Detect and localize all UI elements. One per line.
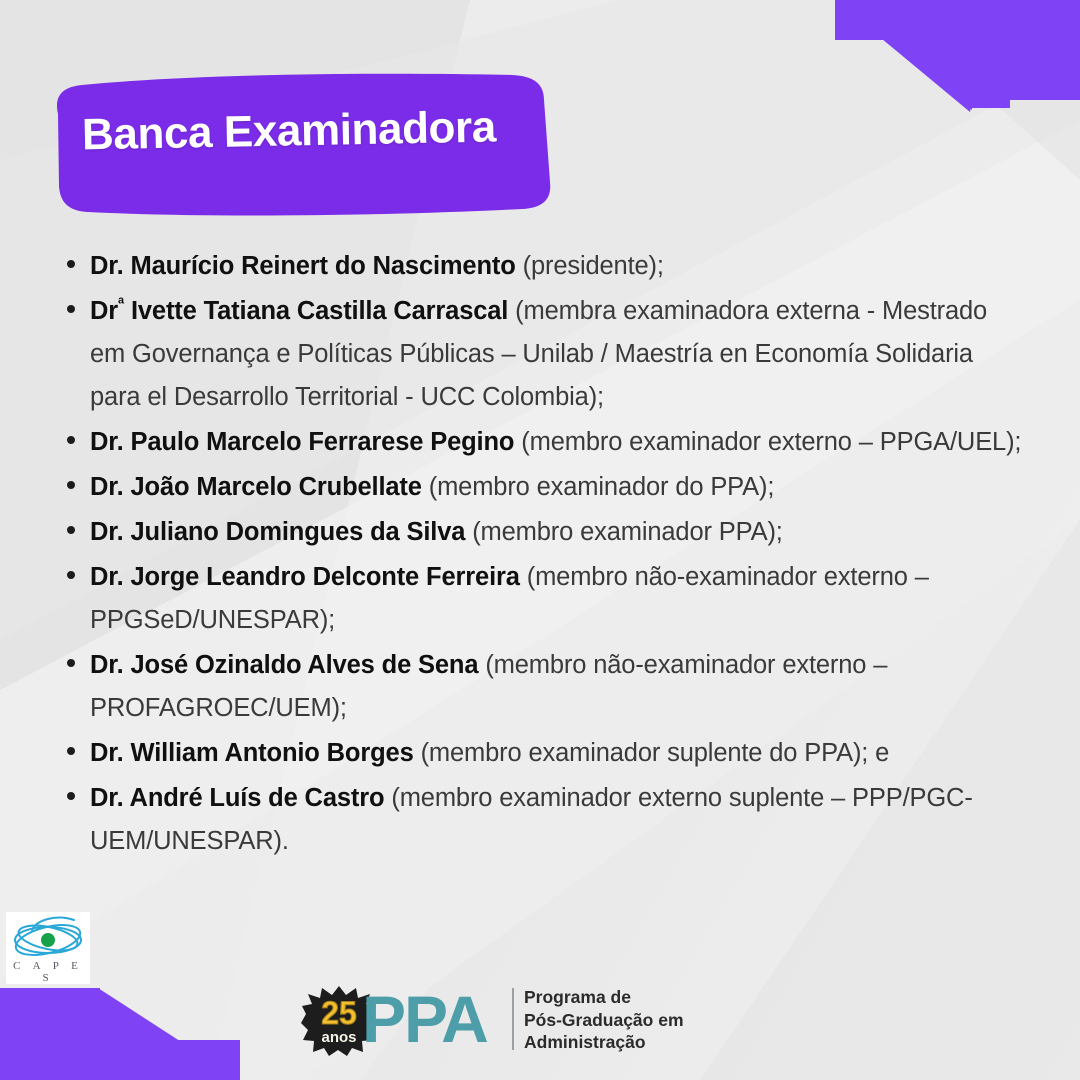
member-name: Dr. William Antonio Borges (90, 739, 414, 767)
list-item: Dr. William Antonio Borges (membro exami… (62, 732, 1022, 775)
ppa-subtitle: Programa de Pós-Graduação em Administraç… (524, 986, 684, 1054)
badge-number: 25 (321, 995, 357, 1031)
bullet-icon (67, 571, 75, 579)
ppa-divider (512, 988, 514, 1050)
capes-wordmark: C A P E S (6, 960, 90, 984)
member-role: (membro examinador externo – PPGA/UEL); (521, 428, 1021, 456)
committee-list: Dr. Maurício Reinert do Nascimento (pres… (62, 245, 1022, 865)
ppa-subtitle-line-1: Programa de (524, 986, 684, 1009)
member-name: Dr. João Marcelo Crubellate (90, 473, 422, 501)
list-item: Dr. Paulo Marcelo Ferrarese Pegino (memb… (62, 421, 1022, 464)
list-item: Dr. André Luís de Castro (membro examina… (62, 777, 1022, 863)
ppa-subtitle-line-2: Pós-Graduação em (524, 1009, 684, 1032)
member-name: Dr. André Luís de Castro (90, 784, 384, 812)
member-name: Dr. Juliano Domingues da Silva (90, 518, 465, 546)
member-name: Dr. Paulo Marcelo Ferrarese Pegino (90, 428, 514, 456)
ppa-subtitle-line-3: Administração (524, 1031, 684, 1054)
list-item: Drª Ivette Tatiana Castilla Carrascal (m… (62, 290, 1022, 419)
ppa-acronym: PPA (362, 982, 487, 1056)
title-banner: Banca Examinadora (44, 72, 564, 217)
ppa-logo: 25 anos PPA Programa de Pós-Graduação em… (300, 980, 700, 1062)
page-title: Banca Examinadora (82, 102, 543, 161)
bullet-icon (67, 481, 75, 489)
member-role: (membro examinador suplente do PPA); e (421, 739, 890, 767)
member-role: (membro examinador PPA); (472, 518, 783, 546)
list-item: Dr. José Ozinaldo Alves de Sena (membro … (62, 644, 1022, 730)
capes-logo: C A P E S (6, 912, 90, 984)
member-name: Dr. Maurício Reinert do Nascimento (90, 252, 516, 280)
list-item: Dr. Juliano Domingues da Silva (membro e… (62, 511, 1022, 554)
capes-orbit-icon (6, 912, 90, 964)
member-role: (membro examinador do PPA); (429, 473, 775, 501)
list-item: Dr. Maurício Reinert do Nascimento (pres… (62, 245, 1022, 288)
member-role: (presidente); (523, 252, 664, 280)
bullet-icon (67, 436, 75, 444)
list-item: Dr. João Marcelo Crubellate (membro exam… (62, 466, 1022, 509)
slide-canvas: Banca Examinadora Dr. Maurício Reinert d… (0, 0, 1080, 1080)
member-name: Dr. José Ozinaldo Alves de Sena (90, 651, 478, 679)
bullet-icon (67, 305, 75, 313)
bullet-icon (67, 526, 75, 534)
member-name: Drª Ivette Tatiana Castilla Carrascal (90, 297, 508, 325)
bullet-icon (67, 792, 75, 800)
list-item: Dr. Jorge Leandro Delconte Ferreira (mem… (62, 556, 1022, 642)
bullet-icon (67, 260, 75, 268)
capes-center-dot (41, 933, 55, 947)
bullet-icon (67, 747, 75, 755)
member-name: Dr. Jorge Leandro Delconte Ferreira (90, 563, 520, 591)
badge-word: anos (321, 1029, 356, 1046)
bullet-icon (67, 659, 75, 667)
